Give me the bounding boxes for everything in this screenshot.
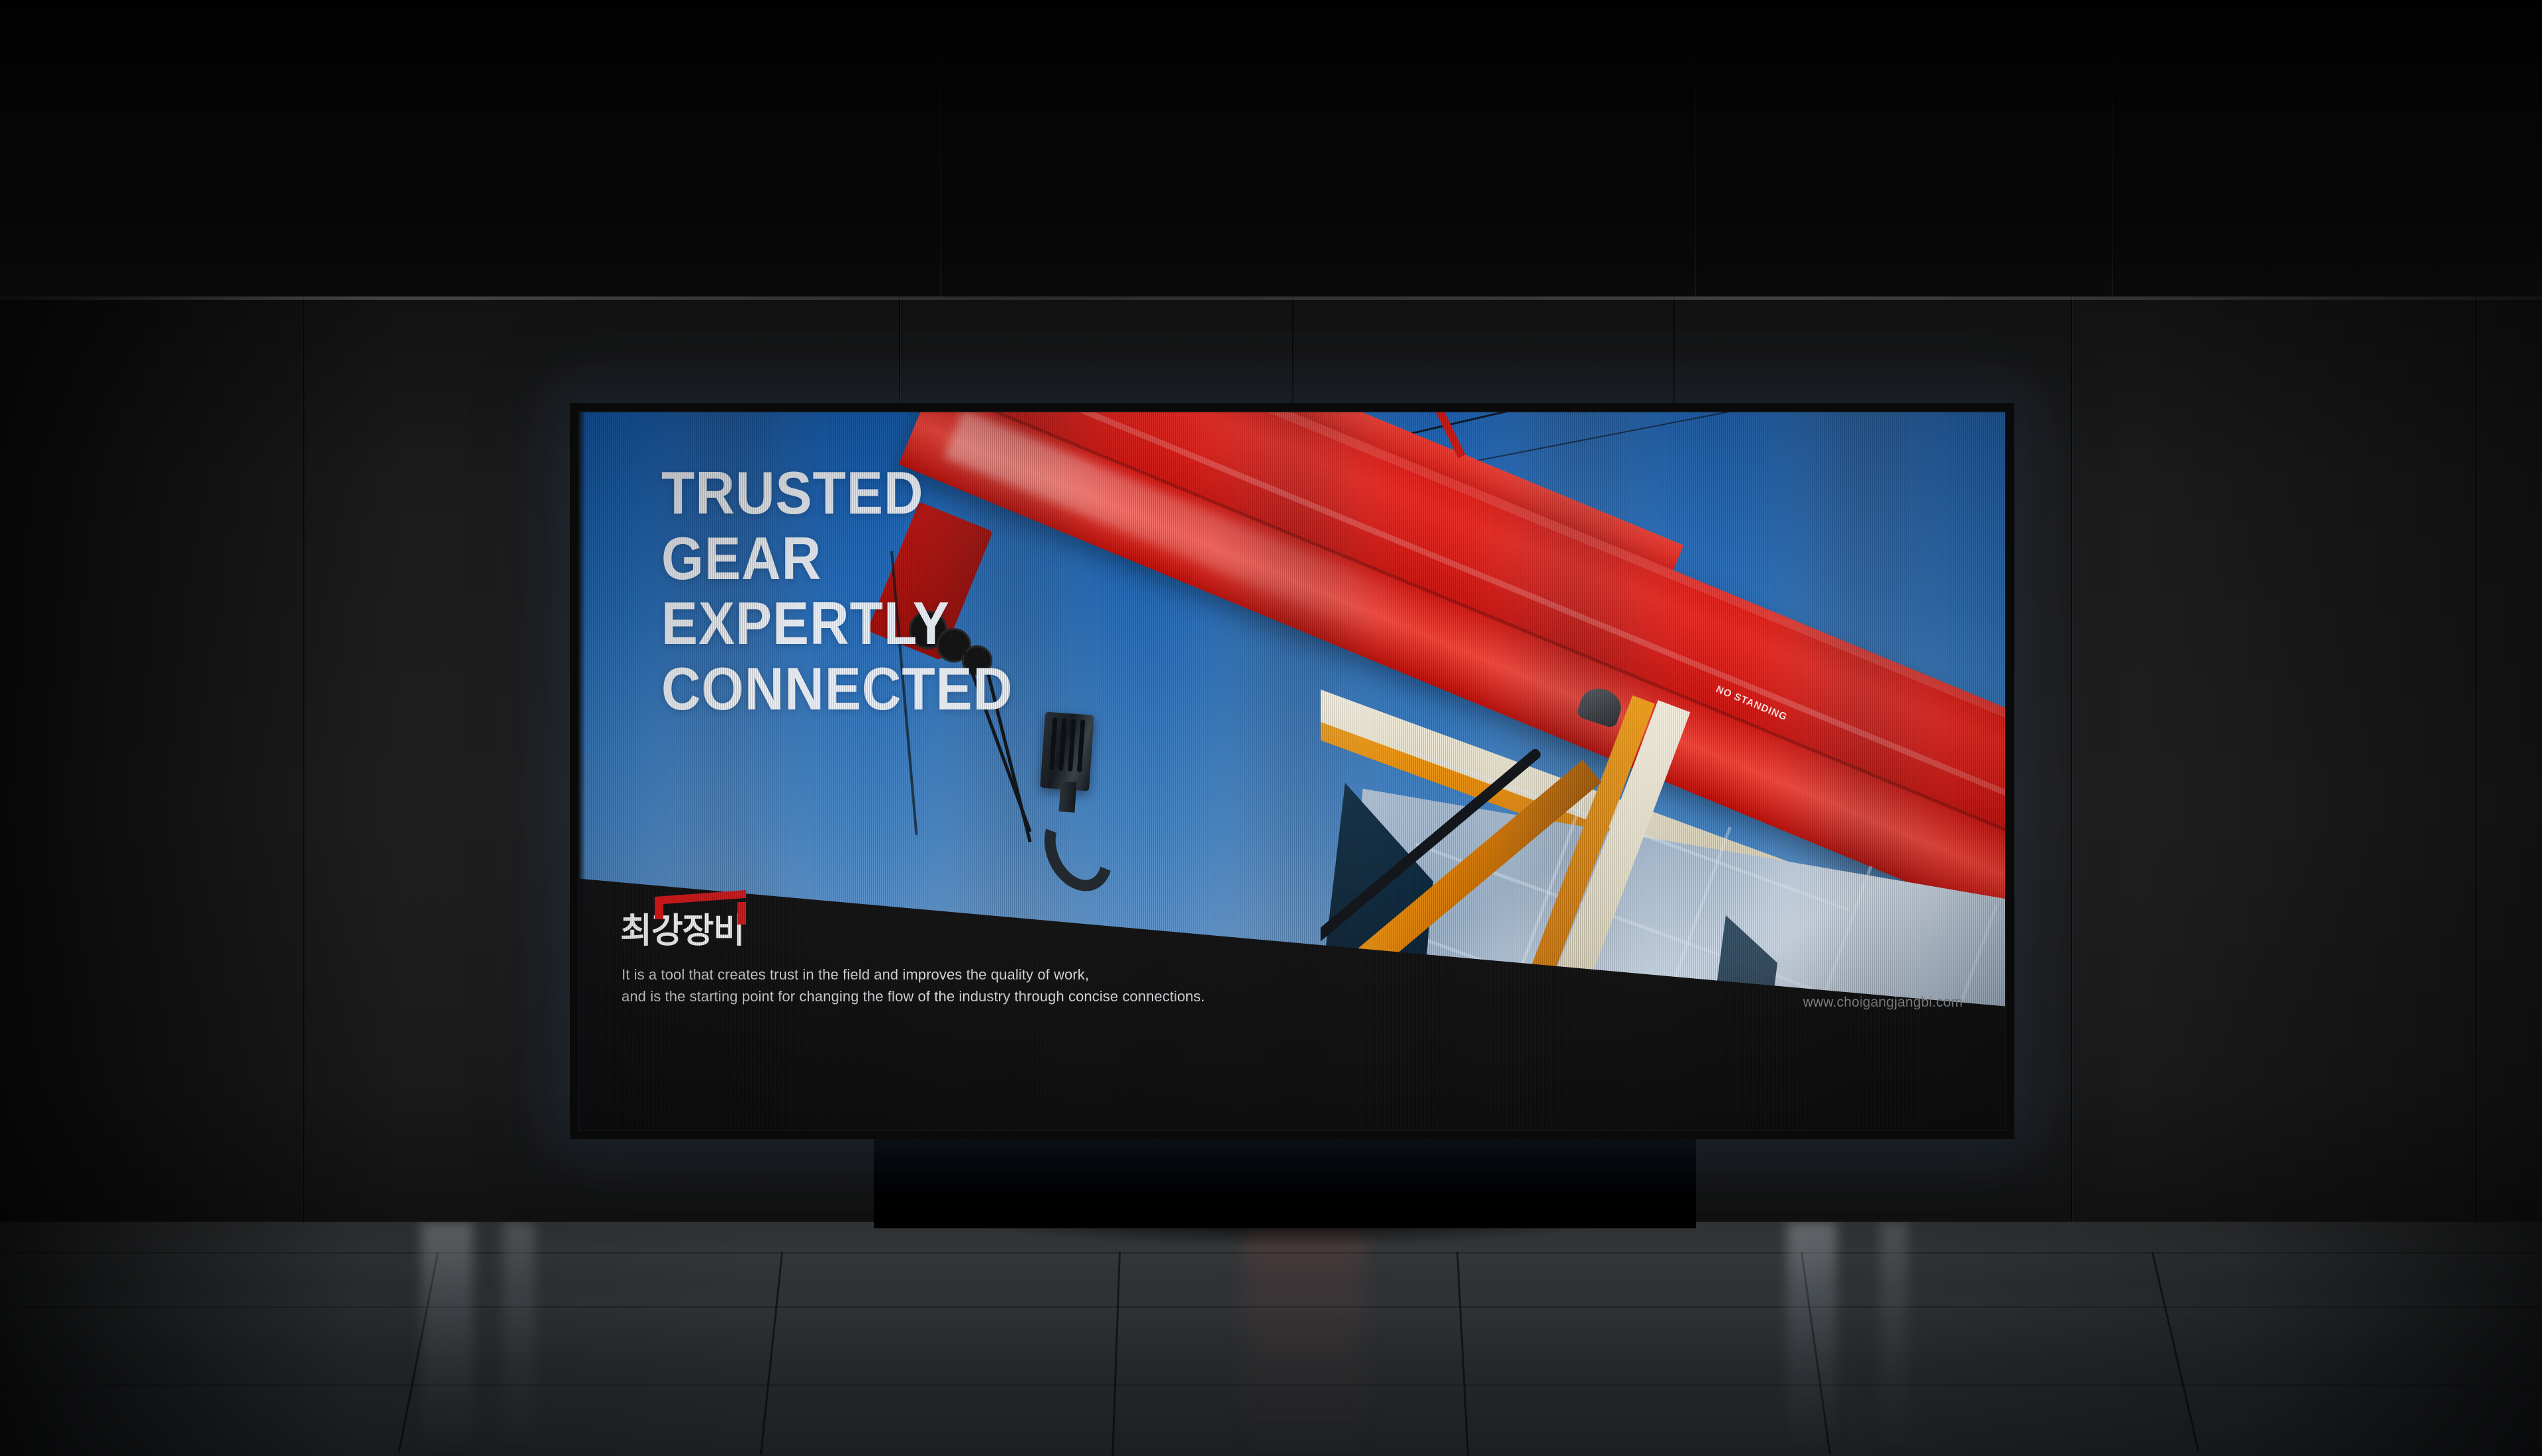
brand-logo[interactable]: 최강장비 <box>620 887 746 948</box>
scene-root: NO STANDING <box>0 0 2542 1456</box>
billboard-pedestal <box>874 1129 1696 1228</box>
headline-line-1: TRUSTED <box>661 461 1013 527</box>
headline-line-4: CONNECTED <box>661 657 1013 723</box>
headline: TRUSTED GEAR EXPERTLY CONNECTED <box>661 461 1050 723</box>
brand-name: 최강장비 <box>620 914 746 948</box>
pedestal-shadow <box>827 1218 1748 1297</box>
tagline-line-2: and is the starting point for changing t… <box>622 986 1205 1008</box>
headline-line-2: GEAR <box>661 527 1013 592</box>
led-billboard[interactable]: NO STANDING <box>570 403 2014 1139</box>
tagline: It is a tool that creates trust in the f… <box>622 964 1205 1007</box>
ceiling-void <box>0 0 2542 302</box>
tagline-line-1: It is a tool that creates trust in the f… <box>622 964 1205 986</box>
website-url[interactable]: www.choigangjangbi.com <box>1803 995 1963 1011</box>
crane-bracket-icon <box>655 887 746 917</box>
headline-line-3: EXPERTLY <box>661 592 1013 657</box>
screen-edge-shading <box>579 412 586 1130</box>
